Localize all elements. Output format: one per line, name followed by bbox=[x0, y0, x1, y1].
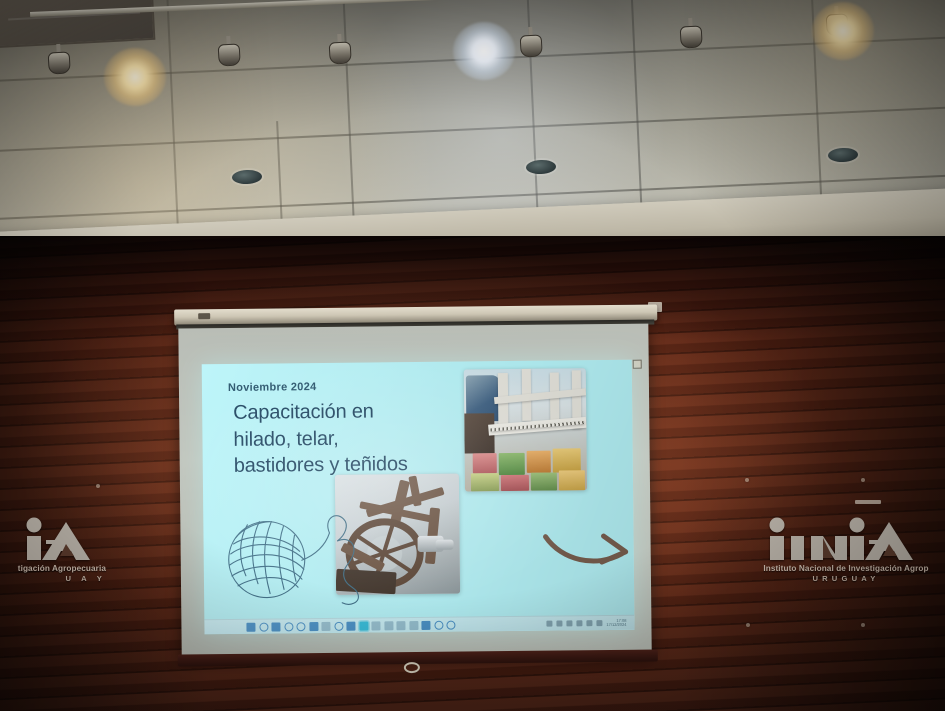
spotlight-fixture-5 bbox=[679, 17, 703, 48]
taskbar-clock[interactable]: 17:08 17/12/2024 bbox=[606, 619, 626, 628]
search-icon[interactable] bbox=[259, 622, 268, 631]
projection-screen-unit[interactable]: Noviembre 2024 Capacitación en hilado, t… bbox=[168, 297, 667, 677]
chat-icon[interactable] bbox=[556, 620, 562, 626]
inia-logo-right: Instituto Nacional de Investigación Agro… bbox=[746, 516, 945, 583]
lamp-glow-cool-1 bbox=[453, 22, 515, 80]
wall-sensor-marker bbox=[633, 360, 642, 369]
crunchyroll-icon[interactable] bbox=[334, 621, 343, 630]
spotlight-fixture-2 bbox=[217, 35, 241, 66]
wall-strip bbox=[855, 500, 881, 504]
spotlight-fixture-1 bbox=[47, 43, 71, 74]
office-icon[interactable] bbox=[446, 620, 455, 629]
volume-icon[interactable] bbox=[586, 620, 592, 626]
taskbar-tray: 17:08 17/12/2024 bbox=[546, 619, 626, 628]
app-icon-4[interactable] bbox=[409, 621, 418, 630]
photo-loom bbox=[464, 368, 587, 491]
start-icon[interactable] bbox=[246, 622, 255, 631]
excel-icon[interactable] bbox=[309, 622, 318, 631]
app-icon-3[interactable] bbox=[396, 621, 405, 630]
lamp-glow-warm-1 bbox=[104, 48, 166, 106]
file-explorer-icon[interactable] bbox=[321, 621, 330, 630]
inia-logo-mark-left-icon bbox=[0, 516, 108, 562]
inia-logo-subtitle: Instituto Nacional de Investigación Agro… bbox=[746, 564, 945, 573]
room-scene: Noviembre 2024 Capacitación en hilado, t… bbox=[0, 0, 945, 711]
battery-icon[interactable] bbox=[566, 620, 572, 626]
app-icon-1[interactable] bbox=[371, 621, 380, 630]
clock-date: 17/12/2024 bbox=[606, 623, 626, 627]
screen-pull-ring[interactable] bbox=[404, 662, 420, 673]
show-hidden-icon[interactable] bbox=[546, 621, 552, 627]
slide-date-label: Noviembre 2024 bbox=[228, 381, 317, 394]
inia-logo-mark-icon bbox=[761, 516, 931, 562]
projected-slide[interactable]: Noviembre 2024 Capacitación en hilado, t… bbox=[202, 360, 635, 634]
task-view-icon[interactable] bbox=[271, 622, 280, 631]
wall-stud-2 bbox=[861, 478, 865, 482]
chrome-icon[interactable] bbox=[284, 622, 293, 631]
curved-arrow-illustration bbox=[539, 520, 634, 581]
wall-stud-5 bbox=[96, 484, 100, 488]
photos-icon[interactable] bbox=[421, 620, 430, 629]
yarn-ball-illustration bbox=[213, 492, 374, 612]
inia-logo-left: tigación Agropecuaria U A Y bbox=[0, 516, 106, 583]
spotlight-fixture-4 bbox=[519, 26, 543, 57]
powerpoint-icon[interactable] bbox=[359, 621, 368, 630]
wall-stud-4 bbox=[861, 623, 865, 627]
inia-logo-left-country: U A Y bbox=[0, 574, 106, 583]
inia-logo-left-subtitle: tigación Agropecuaria bbox=[0, 564, 106, 573]
wifi-icon[interactable] bbox=[576, 620, 582, 626]
wall-stud-1 bbox=[745, 478, 749, 482]
edge-icon[interactable] bbox=[296, 622, 305, 631]
wall-stud-3 bbox=[746, 623, 750, 627]
teams-icon[interactable] bbox=[434, 620, 443, 629]
spotlight-fixture-3 bbox=[328, 33, 352, 64]
lamp-glow-warm-2 bbox=[812, 2, 874, 60]
app-icon-2[interactable] bbox=[384, 621, 393, 630]
keyboard-icon[interactable] bbox=[596, 620, 602, 626]
inia-logo-country: URUGUAY bbox=[746, 574, 945, 583]
onedrive-icon[interactable] bbox=[346, 621, 355, 630]
taskbar-icon-group bbox=[246, 620, 455, 631]
